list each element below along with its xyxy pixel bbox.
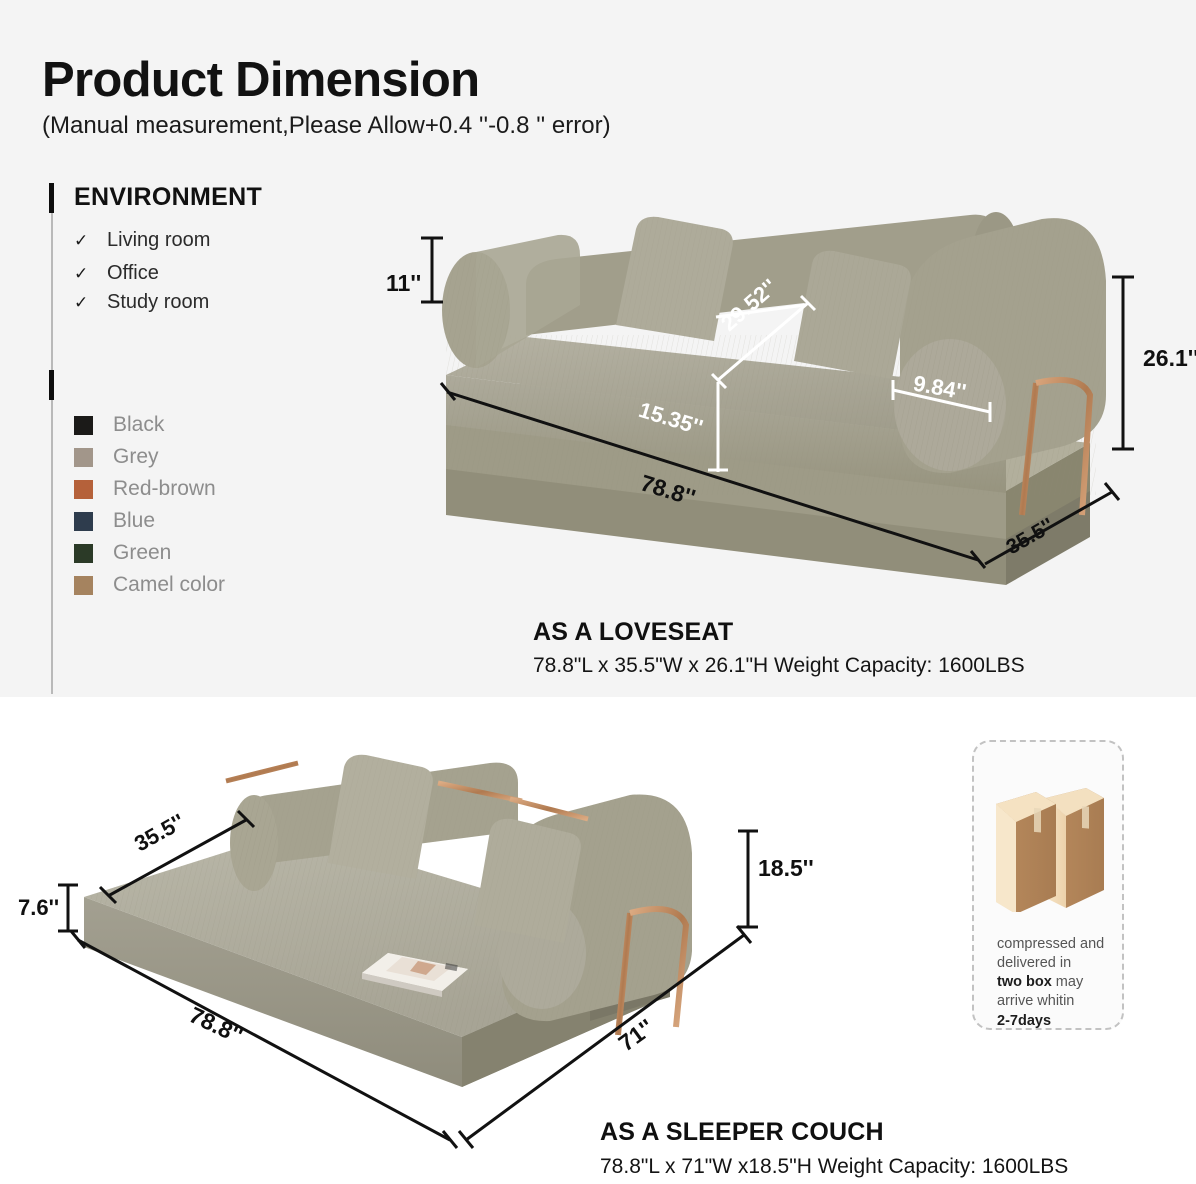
sleeper-caption-sub: 78.8"L x 71"W x18.5"H Weight Capacity: 1… [600,1155,1068,1179]
sleeper-caption-title: AS A SLEEPER COUCH [600,1118,884,1147]
shipping-boxes-icon [990,772,1110,912]
dim-label-mattress-height: 7.6'' [18,895,59,921]
shipping-line-5-bold: 2-7days [997,1013,1051,1029]
shipping-info-text: compressed and delivered in two box may … [997,935,1127,1031]
shipping-line-2: delivered in [997,955,1071,971]
shipping-line-4: arrive whitin [997,993,1074,1009]
shipping-line-1: compressed and [997,936,1104,952]
shipping-line-3-bold: two box [997,974,1052,990]
shipping-line-3-rest: may [1052,974,1083,990]
dim-label-back-height: 18.5'' [758,855,814,882]
